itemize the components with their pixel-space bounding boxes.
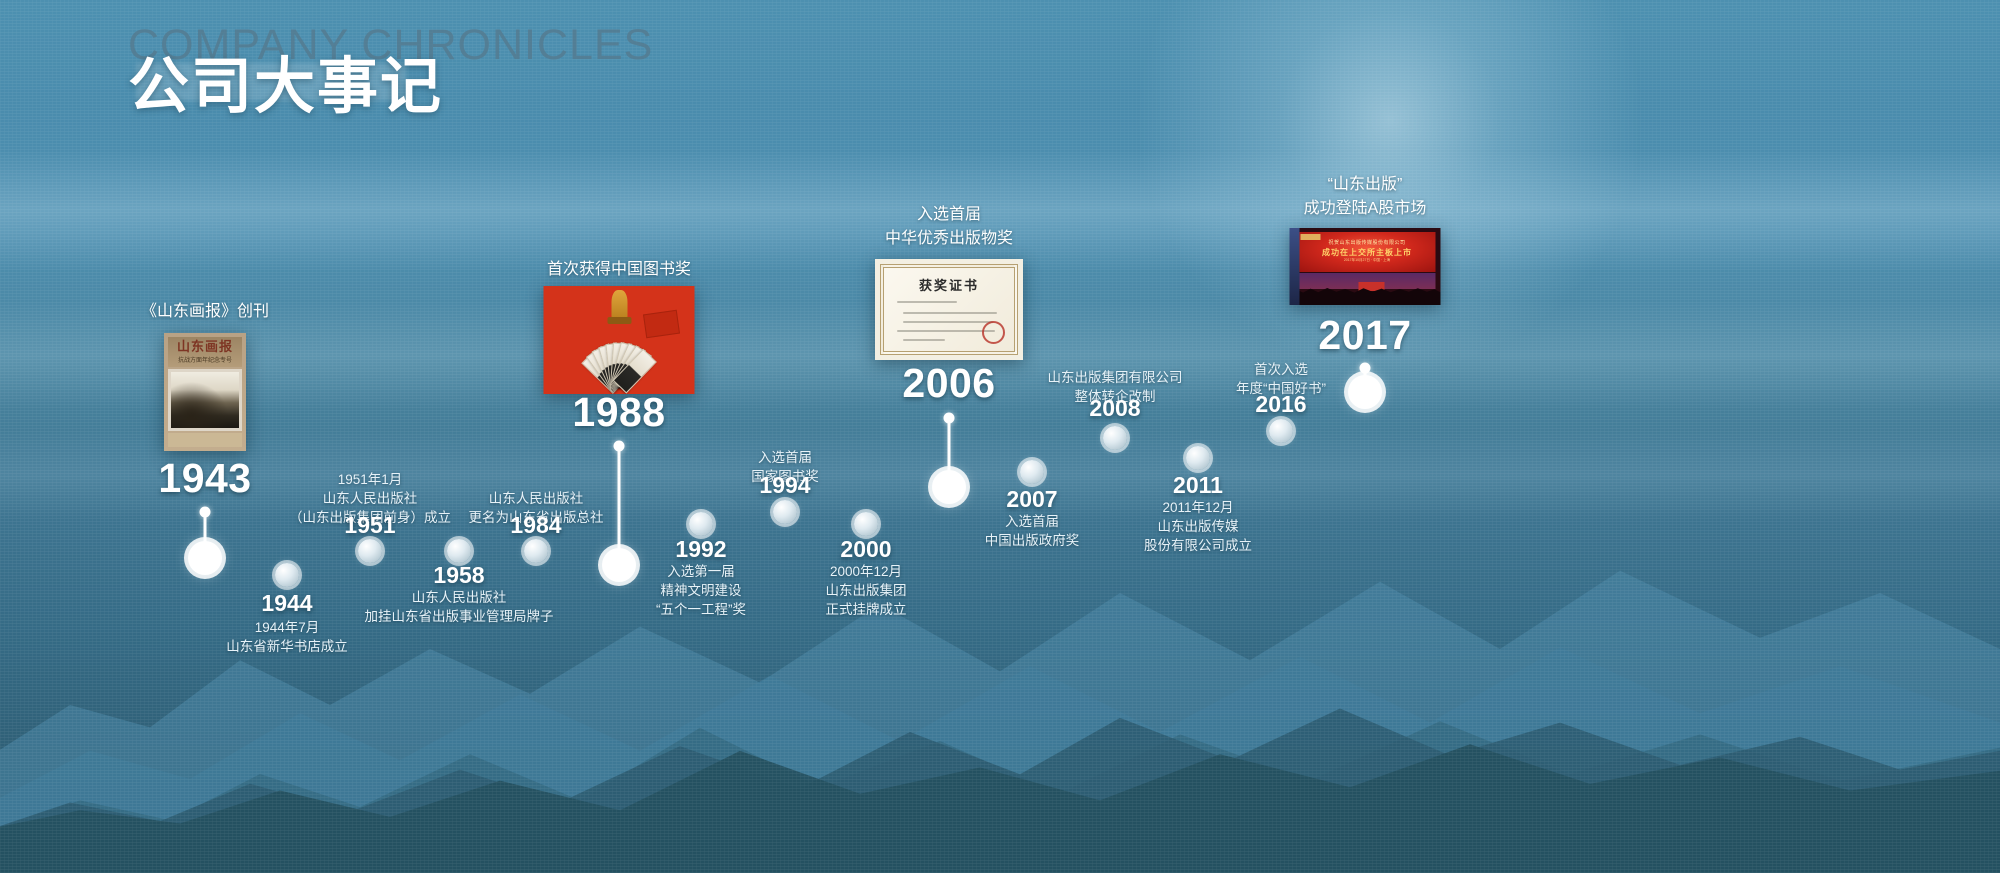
- event-1992-marker[interactable]: [689, 512, 713, 536]
- event-1944-desc-line-2: 山东省新华书店成立: [226, 637, 348, 656]
- event-2008-desc-line-1: 山东出版集团有限公司: [1048, 368, 1183, 387]
- event-2007-marker[interactable]: [1020, 460, 1044, 484]
- event-2016-desc-line-1: 首次入选: [1254, 360, 1308, 379]
- certificate-title-text: 获奖证书: [875, 275, 1023, 294]
- event-1958-year: 1958: [433, 560, 484, 590]
- event-1994-marker[interactable]: [773, 500, 797, 524]
- haze-band-1: [0, 150, 2000, 270]
- event-2011-marker[interactable]: [1186, 446, 1210, 470]
- event-1988-stem: [618, 446, 621, 559]
- event-1984-desc-line-1: 山东人民出版社: [489, 489, 584, 508]
- event-1992-desc-line-1: 入选第一届: [667, 562, 735, 581]
- event-1951-desc-line-1: 1951年1月: [338, 470, 403, 489]
- certificate-text-line: [903, 321, 993, 323]
- event-2011-desc-line-2: 山东出版传媒: [1158, 517, 1239, 536]
- cover-title-text: 山东画报: [169, 338, 241, 357]
- event-1951-year: 1951: [344, 510, 395, 540]
- banner-line-2: 成功在上交所主板上市: [1299, 247, 1436, 258]
- ceremony-side-scaffold: [1290, 228, 1300, 305]
- banner-line-3: 2017年10月27日 · 中国 · 上海: [1299, 258, 1436, 263]
- event-2017-year: 2017: [1318, 310, 1411, 360]
- ipo-ceremony-photo: 祝贺山东出版传媒股份有限公司 成功在上交所主板上市 2017年10月27日 · …: [1290, 228, 1441, 305]
- certificate-text-line: [903, 312, 997, 314]
- event-2016-year: 2016: [1255, 389, 1306, 419]
- event-1951-desc-line-2: 山东人民出版社: [323, 489, 418, 508]
- chinese-title-wrap: 公司大事记: [128, 53, 443, 120]
- event-2007-desc-line-2: 中国出版政府奖: [985, 531, 1080, 550]
- certificate-seal-icon: [982, 321, 1005, 344]
- award-certificate-photo: 获奖证书: [875, 259, 1023, 360]
- event-1994-year: 1994: [759, 470, 810, 500]
- event-2017-headline-line-2: 成功登陆A股市场: [1304, 197, 1427, 221]
- event-2007-desc-line-1: 入选首届: [1005, 512, 1059, 531]
- china-book-award-photo: [544, 286, 695, 394]
- event-2011-desc-line-1: 2011年12月: [1162, 498, 1233, 517]
- event-1984-year: 1984: [510, 510, 561, 540]
- certificate-fan: [558, 329, 680, 387]
- certificate-text-line: [903, 339, 945, 341]
- event-1992-year: 1992: [675, 534, 726, 564]
- event-1958-desc-line-1: 山东人民出版社: [412, 588, 507, 607]
- event-2017-headline-line-1: “山东出版”: [1328, 173, 1403, 197]
- event-2011-year: 2011: [1173, 470, 1223, 500]
- cover-subtitle-text: 抗战方面年纪念专号: [169, 357, 241, 366]
- banner-line-1: 祝贺山东出版传媒股份有限公司: [1299, 239, 1436, 246]
- event-2000-marker[interactable]: [854, 512, 878, 536]
- event-1992-desc-line-3: “五个一工程”奖: [656, 600, 746, 619]
- event-1944-marker[interactable]: [275, 563, 299, 587]
- event-2000-desc-line-2: 山东出版集团: [826, 581, 907, 600]
- event-1951-marker[interactable]: [358, 539, 382, 563]
- page-title: 公司大事记: [128, 53, 443, 120]
- event-1943-stem-cap: [200, 507, 211, 518]
- event-1988-headline: 首次获得中国图书奖: [547, 258, 691, 282]
- timeline-infographic: COMPANY CHRONICLES 公司大事记 《山东画报》创刊 山东画报 抗…: [0, 0, 2000, 873]
- certificate-text-line: [897, 301, 957, 303]
- event-1984-marker[interactable]: [524, 539, 548, 563]
- event-2000-desc-line-3: 正式挂牌成立: [826, 600, 907, 619]
- cover-illustration: [171, 372, 239, 428]
- event-1944-year: 1944: [261, 588, 312, 618]
- event-2017-marker[interactable]: [1348, 375, 1382, 409]
- event-1988-stem-cap: [614, 441, 625, 452]
- event-2016-marker[interactable]: [1269, 419, 1293, 443]
- event-2007-year: 2007: [1006, 484, 1057, 514]
- haze-band-3: [0, 430, 2000, 520]
- event-1988-marker[interactable]: [602, 548, 636, 582]
- event-2006-marker[interactable]: [932, 470, 966, 504]
- event-1992-desc-line-2: 精神文明建设: [661, 581, 742, 600]
- event-2008-marker[interactable]: [1103, 426, 1127, 450]
- event-1944-desc-line-1: 1944年7月: [255, 618, 320, 637]
- event-2017-stem-cap: [1360, 363, 1371, 374]
- event-2008-year: 2008: [1089, 393, 1140, 423]
- event-2006-stem-cap: [944, 413, 955, 424]
- event-1958-desc-line-2: 加挂山东省出版事业管理局牌子: [365, 607, 554, 626]
- certificate-text-line: [897, 330, 995, 332]
- event-1943-marker[interactable]: [188, 541, 222, 575]
- event-1994-desc-line-1: 入选首届: [758, 448, 812, 467]
- event-1988-year: 1988: [572, 387, 665, 437]
- event-2006-year: 2006: [902, 358, 995, 408]
- trophy-icon: [611, 290, 627, 320]
- event-2000-year: 2000: [840, 534, 891, 564]
- page-header: COMPANY CHRONICLES 公司大事记: [128, 24, 653, 120]
- shandong-pictorial-cover-photo: 山东画报 抗战方面年纪念专号: [164, 333, 246, 451]
- exchange-logo-icon: [1301, 234, 1321, 240]
- event-1943-headline: 《山东画报》创刊: [141, 300, 269, 324]
- cover-footer: [168, 433, 242, 447]
- event-2000-desc-line-1: 2000年12月: [830, 562, 902, 581]
- event-2006-headline-line-2: 中华优秀出版物奖: [885, 227, 1013, 251]
- event-2011-desc-line-3: 股份有限公司成立: [1144, 536, 1252, 555]
- event-2006-headline-line-1: 入选首届: [917, 203, 981, 227]
- event-1943-year: 1943: [158, 453, 251, 503]
